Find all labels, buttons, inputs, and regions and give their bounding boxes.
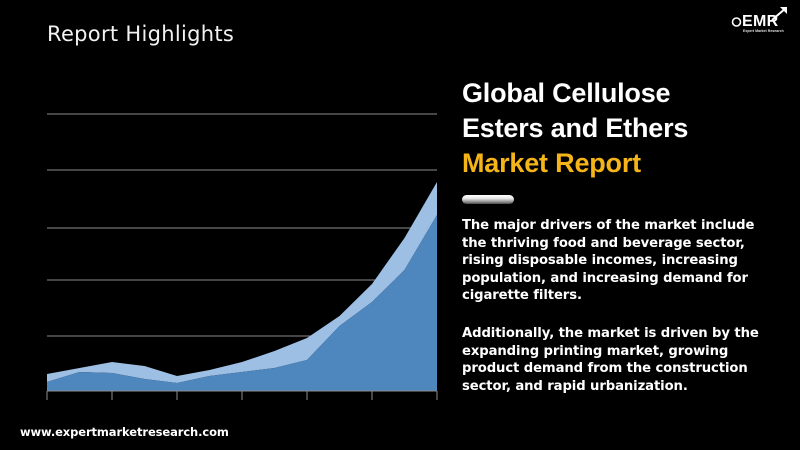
area-chart — [0, 80, 450, 405]
footer-website-url[interactable]: www.expertmarketresearch.com — [20, 425, 229, 439]
svg-text:EMR: EMR — [742, 13, 779, 30]
report-title: Global Cellulose Esters and Ethers Marke… — [462, 76, 780, 181]
slide-root: Report Highlights EMR Expert Market Rese… — [0, 0, 800, 450]
report-paragraph-1: The major drivers of the market include … — [462, 217, 780, 305]
divider-bar — [462, 195, 514, 204]
svg-text:Expert Market Research: Expert Market Research — [743, 29, 784, 33]
circle-outline-icon — [733, 18, 741, 26]
report-paragraph-2: Additionally, the market is driven by th… — [462, 325, 780, 395]
report-title-line-1: Global Cellulose — [462, 76, 780, 111]
page-title: Report Highlights — [47, 22, 234, 46]
report-panel: Global Cellulose Esters and Ethers Marke… — [462, 76, 780, 395]
chart-x-ticks — [47, 391, 437, 400]
report-title-line-2: Esters and Ethers — [462, 111, 780, 146]
report-title-line-3: Market Report — [462, 146, 780, 181]
emr-logo[interactable]: EMR Expert Market Research — [730, 5, 792, 35]
